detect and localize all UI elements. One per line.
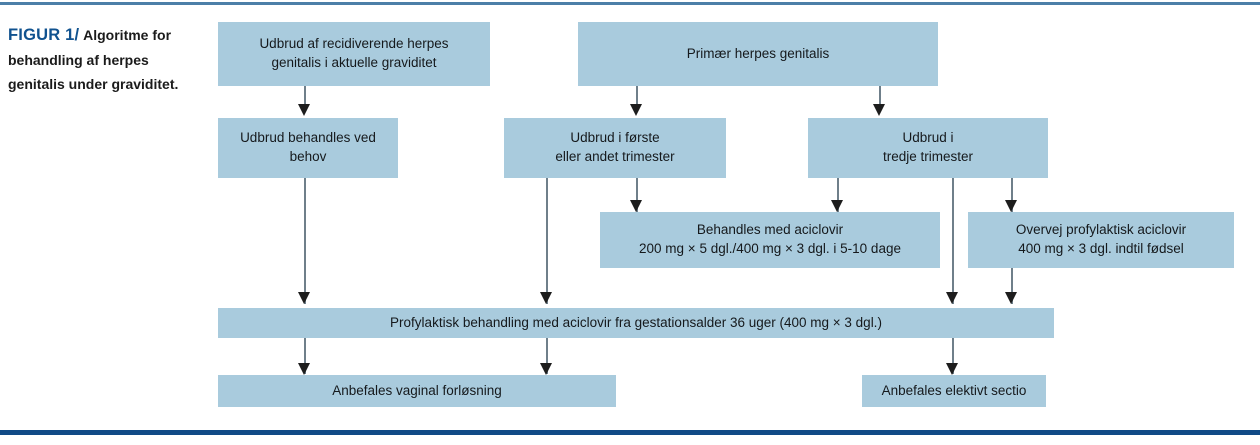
node-recidiverende-herpes: Udbrud af recidiverende herpes genitalis… — [218, 22, 490, 86]
figure-container: FIGUR 1/ Algoritme for behandling af her… — [0, 0, 1260, 445]
node-primaer-herpes: Primær herpes genitalis — [578, 22, 938, 86]
node-behov-line2: behov — [240, 148, 376, 167]
figure-caption: FIGUR 1/ Algoritme for behandling af her… — [8, 22, 188, 98]
node-recidiverende-herpes-line2: genitalis i aktuelle graviditet — [259, 54, 448, 73]
arrowhead-trimester12-to-aciclovir — [630, 200, 642, 212]
node-primaer-herpes-text: Primær herpes genitalis — [687, 45, 830, 64]
node-trimester3-line2: tredje trimester — [883, 148, 973, 167]
arrowhead-gestation36-to-vaginal-left — [298, 363, 310, 375]
arrowhead-trimester12-to-gestation36 — [540, 292, 552, 304]
connector-trimester3-to-gestation36 — [952, 178, 954, 304]
node-profylaktisk-behandling-36-uger: Profylaktisk behandling med aciclovir fr… — [218, 308, 1054, 338]
figure-number: FIGUR 1 — [8, 26, 75, 44]
node-vaginal-text: Anbefales vaginal forløsning — [332, 382, 502, 401]
arrowhead-primaer-to-trimester3 — [873, 104, 885, 116]
arrowhead-trimester3-to-profylakse — [1005, 200, 1017, 212]
node-aciclovir-line1: Behandles med aciclovir — [639, 221, 901, 240]
node-foerste-andet-trimester: Udbrud i første eller andet trimester — [504, 118, 726, 178]
node-anbefales-elektivt-sectio: Anbefales elektivt sectio — [862, 375, 1046, 407]
bottom-divider-rule — [0, 430, 1260, 435]
arrowhead-trimester3-to-aciclovir — [831, 200, 843, 212]
arrowhead-behov-to-gestation36 — [298, 292, 310, 304]
node-profylakse-line2: 400 mg × 3 dgl. indtil fødsel — [1016, 240, 1186, 259]
connector-trimester12-to-gestation36 — [546, 178, 548, 304]
node-tredje-trimester: Udbrud i tredje trimester — [808, 118, 1048, 178]
node-profylakse-line1: Overvej profylaktisk aciclovir — [1016, 221, 1186, 240]
node-gestation36-text: Profylaktisk behandling med aciclovir fr… — [390, 314, 882, 333]
node-behandles-med-aciclovir: Behandles med aciclovir 200 mg × 5 dgl./… — [600, 212, 940, 268]
arrowhead-trimester3-to-gestation36 — [946, 292, 958, 304]
figure-slash: / — [75, 26, 80, 44]
arrowhead-recidiv-to-behov — [298, 104, 310, 116]
arrowhead-primaer-to-trimester12 — [630, 104, 642, 116]
node-sectio-text: Anbefales elektivt sectio — [882, 382, 1027, 401]
node-trimester12-line2: eller andet trimester — [555, 148, 674, 167]
node-udbrud-behandles-ved-behov: Udbrud behandles ved behov — [218, 118, 398, 178]
arrowhead-gestation36-to-vaginal-mid — [540, 363, 552, 375]
node-trimester3-line1: Udbrud i — [883, 129, 973, 148]
node-trimester12-line1: Udbrud i første — [555, 129, 674, 148]
arrowhead-gestation36-to-sectio — [946, 363, 958, 375]
node-anbefales-vaginal-forloesning: Anbefales vaginal forløsning — [218, 375, 616, 407]
node-behov-line1: Udbrud behandles ved — [240, 129, 376, 148]
arrowhead-profylakse-to-gestation36 — [1005, 292, 1017, 304]
node-overvej-profylaktisk-aciclovir: Overvej profylaktisk aciclovir 400 mg × … — [968, 212, 1234, 268]
connector-behov-to-gestation36 — [304, 178, 306, 304]
top-divider-rule — [0, 2, 1260, 5]
node-recidiverende-herpes-line1: Udbrud af recidiverende herpes — [259, 35, 448, 54]
node-aciclovir-line2: 200 mg × 5 dgl./400 mg × 3 dgl. i 5-10 d… — [639, 240, 901, 259]
